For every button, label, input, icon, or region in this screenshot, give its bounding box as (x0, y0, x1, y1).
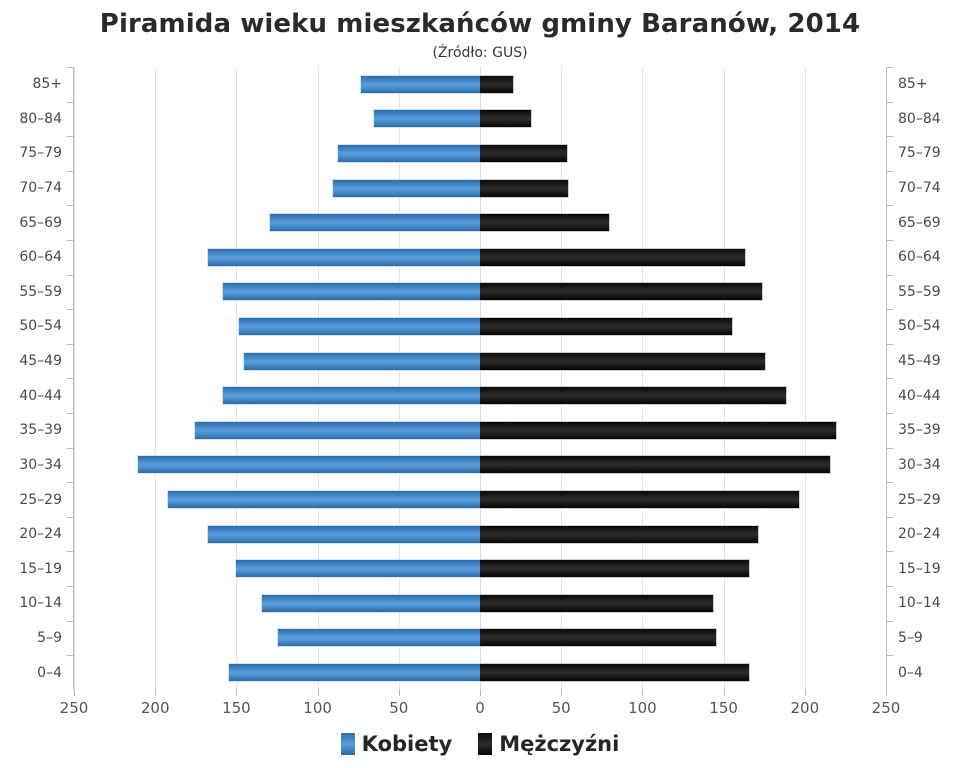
y-axis-label-left: 80–84 (19, 111, 62, 127)
y-axis-tick (67, 551, 74, 552)
y-axis-label-right: 45–49 (898, 353, 941, 369)
pyramid-row (74, 109, 886, 128)
y-axis-tick (886, 205, 893, 206)
y-axis-label-right: 65–69 (898, 215, 941, 231)
y-axis-label-right: 30–34 (898, 457, 941, 473)
y-axis-label-right: 0–4 (898, 665, 923, 681)
y-axis-tick (67, 586, 74, 587)
plot-area: 85+80–8475–7970–7465–6960–6455–5950–5445… (0, 61, 960, 690)
y-axis-label-right: 80–84 (898, 111, 941, 127)
bar-female (261, 594, 480, 613)
y-axis-tick (886, 378, 893, 379)
x-axis-label: 200 (141, 699, 170, 717)
y-axis-label-left: 75–79 (19, 145, 62, 161)
bar-female (207, 525, 480, 544)
y-axis-tick (67, 102, 74, 103)
y-axis-tick (67, 413, 74, 414)
y-axis-label-left: 10–14 (19, 595, 62, 611)
x-axis-tick (886, 690, 887, 696)
pyramid-row (74, 144, 886, 163)
bar-male (480, 490, 800, 509)
bar-male (480, 525, 759, 544)
y-axis-tick (886, 240, 893, 241)
bar-male (480, 455, 831, 474)
y-axis-tick (886, 448, 893, 449)
pyramid-row (74, 490, 886, 509)
y-axis-tick (886, 551, 893, 552)
y-axis-tick (886, 136, 893, 137)
y-axis-label-left: 15–19 (19, 561, 62, 577)
x-axis-label: 50 (552, 699, 571, 717)
bar-female (269, 213, 480, 232)
y-axis-label-left: 5–9 (37, 630, 62, 646)
y-axis-tick (67, 205, 74, 206)
legend-label-kobiety: Kobiety (362, 732, 453, 756)
x-axis-label: 150 (709, 699, 738, 717)
y-axis-label-left: 25–29 (19, 492, 62, 508)
bar-female (238, 317, 480, 336)
y-axis-label-right: 55–59 (898, 284, 941, 300)
y-axis-label-right: 15–19 (898, 561, 941, 577)
pyramid-row (74, 213, 886, 232)
y-axis-label-left: 40–44 (19, 388, 62, 404)
bar-female (194, 421, 480, 440)
y-axis-label-left: 30–34 (19, 457, 62, 473)
bar-female (332, 179, 480, 198)
bar-male (480, 282, 763, 301)
y-axis-tick (67, 621, 74, 622)
y-axis-tick (67, 275, 74, 276)
bar-female (360, 75, 480, 94)
pyramid-row (74, 455, 886, 474)
x-axis-tick (399, 690, 400, 696)
x-axis-label: 100 (628, 699, 657, 717)
x-axis-label: 150 (222, 699, 251, 717)
y-axis-tick (67, 67, 74, 68)
legend-item-mezczyzni: Mężczyźni (478, 732, 619, 756)
y-axis-tick (67, 448, 74, 449)
y-axis-left: 85+80–8475–7970–7465–6960–6455–5950–5445… (0, 67, 74, 690)
x-axis-label: 250 (872, 699, 901, 717)
bar-female (277, 628, 480, 647)
pyramid-row (74, 525, 886, 544)
chart-legend: Kobiety Mężczyźni (0, 720, 960, 768)
bar-female (167, 490, 480, 509)
y-axis-label-right: 25–29 (898, 492, 941, 508)
y-axis-tick (67, 344, 74, 345)
y-axis-tick (67, 240, 74, 241)
y-axis-label-left: 60–64 (19, 249, 62, 265)
bars-area (74, 67, 886, 690)
bar-female (222, 386, 480, 405)
y-axis-label-left: 70–74 (19, 180, 62, 196)
bar-male (480, 75, 514, 94)
y-axis-label-right: 5–9 (898, 630, 923, 646)
y-axis-label-right: 40–44 (898, 388, 941, 404)
x-axis-label: 250 (60, 699, 89, 717)
pyramid-row (74, 386, 886, 405)
y-axis-tick (886, 309, 893, 310)
y-axis-tick (886, 102, 893, 103)
chart-title-block: Piramida wieku mieszkańców gminy Baranów… (0, 0, 960, 61)
y-axis-label-left: 50–54 (19, 318, 62, 334)
bar-female (235, 559, 480, 578)
bar-female (243, 352, 480, 371)
bar-female (228, 663, 480, 682)
x-axis-tick (805, 690, 806, 696)
pyramid-row (74, 594, 886, 613)
y-axis-label-left: 35–39 (19, 422, 62, 438)
y-axis-tick (886, 344, 893, 345)
y-axis-label-right: 85+ (898, 76, 928, 92)
y-axis-label-right: 70–74 (898, 180, 941, 196)
legend-swatch-female-icon (341, 733, 355, 755)
y-axis-label-right: 10–14 (898, 595, 941, 611)
chart-subtitle: (Źródło: GUS) (0, 45, 960, 61)
bar-male (480, 144, 568, 163)
y-axis-tick (67, 378, 74, 379)
y-axis-tick (886, 621, 893, 622)
x-axis-label: 0 (475, 699, 485, 717)
bar-male (480, 628, 717, 647)
y-axis-tick (886, 655, 893, 656)
bar-male (480, 663, 750, 682)
pyramid-row (74, 282, 886, 301)
bar-male (480, 179, 569, 198)
y-axis-label-right: 75–79 (898, 145, 941, 161)
y-axis-tick (886, 275, 893, 276)
pyramid-row (74, 75, 886, 94)
y-axis-tick (886, 171, 893, 172)
x-axis-tick (480, 690, 481, 696)
y-axis-label-right: 20–24 (898, 526, 941, 542)
pyramid-row (74, 352, 886, 371)
y-axis-tick (67, 309, 74, 310)
pyramid-row (74, 317, 886, 336)
y-axis-tick (886, 517, 893, 518)
x-axis-label: 100 (303, 699, 332, 717)
population-pyramid-chart: Piramida wieku mieszkańców gminy Baranów… (0, 0, 960, 768)
pyramid-row (74, 248, 886, 267)
bar-male (480, 559, 750, 578)
y-axis-tick (67, 655, 74, 656)
x-axis-tick (155, 690, 156, 696)
bar-female (137, 455, 480, 474)
y-axis-tick (67, 171, 74, 172)
bar-male (480, 352, 766, 371)
y-axis-label-left: 20–24 (19, 526, 62, 542)
bar-male (480, 594, 714, 613)
pyramid-row (74, 559, 886, 578)
x-axis-tick (318, 690, 319, 696)
y-axis-label-right: 60–64 (898, 249, 941, 265)
y-axis-tick (67, 517, 74, 518)
bar-male (480, 248, 746, 267)
y-axis-tick (886, 67, 893, 68)
y-axis-tick (886, 413, 893, 414)
y-axis-label-right: 50–54 (898, 318, 941, 334)
pyramid-row (74, 421, 886, 440)
legend-item-kobiety: Kobiety (341, 732, 453, 756)
y-axis-label-left: 0–4 (37, 665, 62, 681)
bar-male (480, 421, 837, 440)
y-axis-tick (67, 482, 74, 483)
x-axis-label: 200 (790, 699, 819, 717)
y-axis-label-left: 45–49 (19, 353, 62, 369)
y-axis-right: 85+80–8475–7970–7465–6960–6455–5950–5445… (886, 67, 960, 690)
y-axis-label-right: 35–39 (898, 422, 941, 438)
x-axis-tick (236, 690, 237, 696)
bar-male (480, 109, 532, 128)
bar-male (480, 213, 610, 232)
x-axis-label: 50 (389, 699, 408, 717)
legend-label-mezczyzni: Mężczyźni (499, 732, 619, 756)
y-axis-label-left: 65–69 (19, 215, 62, 231)
bar-male (480, 317, 733, 336)
y-axis-label-left: 55–59 (19, 284, 62, 300)
page-title: Piramida wieku mieszkańców gminy Baranów… (0, 10, 960, 40)
y-axis-tick (886, 482, 893, 483)
x-axis-tick (642, 690, 643, 696)
bar-female (207, 248, 480, 267)
x-axis-tick (724, 690, 725, 696)
pyramid-row (74, 663, 886, 682)
x-axis-tick (74, 690, 75, 696)
x-axis: 25020015010050050100150200250 (0, 690, 960, 720)
bar-male (480, 386, 787, 405)
legend-swatch-male-icon (478, 733, 492, 755)
y-axis-tick (67, 136, 74, 137)
pyramid-row (74, 179, 886, 198)
bar-female (337, 144, 480, 163)
pyramid-row (74, 628, 886, 647)
y-axis-tick (886, 586, 893, 587)
bar-female (222, 282, 480, 301)
y-axis-label-left: 85+ (32, 76, 62, 92)
x-axis-tick (561, 690, 562, 696)
bar-female (373, 109, 480, 128)
